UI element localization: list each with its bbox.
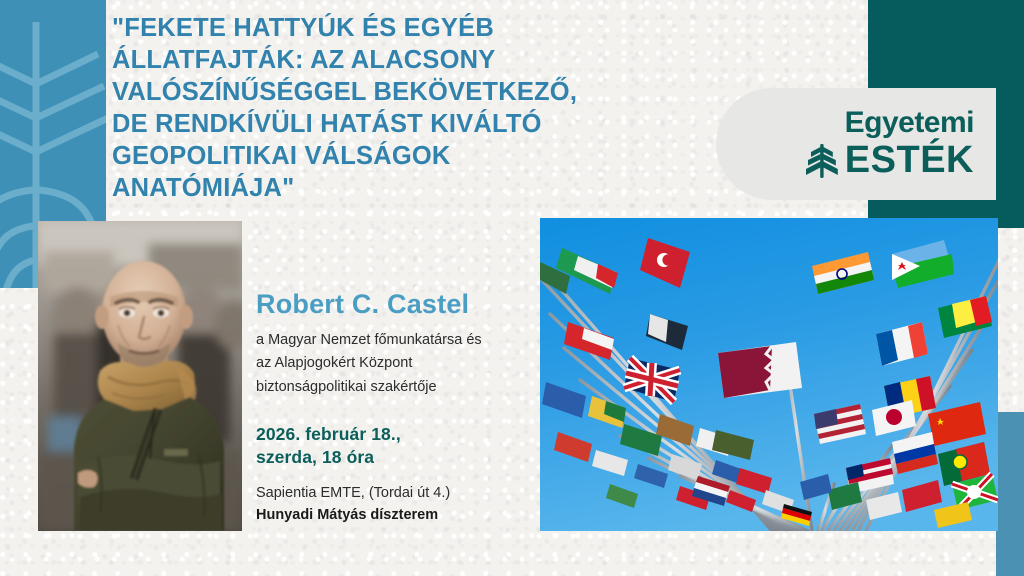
event-hall: Hunyadi Mátyás díszterem bbox=[256, 504, 526, 526]
flags-photo bbox=[540, 218, 998, 531]
event-date: 2026. február 18., szerda, 18 óra bbox=[256, 423, 526, 469]
event-venue: Sapientia EMTE, (Tordai út 4.) bbox=[256, 482, 526, 504]
brand-line-estek: ESTÉK bbox=[845, 141, 974, 179]
blue-accent-block bbox=[996, 412, 1024, 576]
leaf-tree-icon bbox=[803, 140, 841, 180]
brand-logo: Egyetemi ESTÉK bbox=[716, 88, 996, 200]
page-title: "FEKETE HATTYÚK ÉS EGYÉB ÁLLATFAJTÁK: AZ… bbox=[112, 12, 712, 204]
brand-line-egyetemi: Egyetemi bbox=[845, 108, 974, 138]
speaker-portrait-photo bbox=[38, 221, 242, 531]
event-poster: "FEKETE HATTYÚK ÉS EGYÉB ÁLLATFAJTÁK: AZ… bbox=[0, 0, 1024, 576]
international-flags-image bbox=[540, 218, 998, 531]
event-info-column: Robert C. Castel a Magyar Nemzet főmunka… bbox=[256, 290, 526, 527]
speaker-portrait-image bbox=[38, 221, 242, 531]
speaker-name: Robert C. Castel bbox=[256, 290, 526, 320]
speaker-role: a Magyar Nemzet főmunkatársa és az Alapj… bbox=[256, 329, 526, 399]
brand-line-estek-row: ESTÉK bbox=[803, 140, 974, 180]
